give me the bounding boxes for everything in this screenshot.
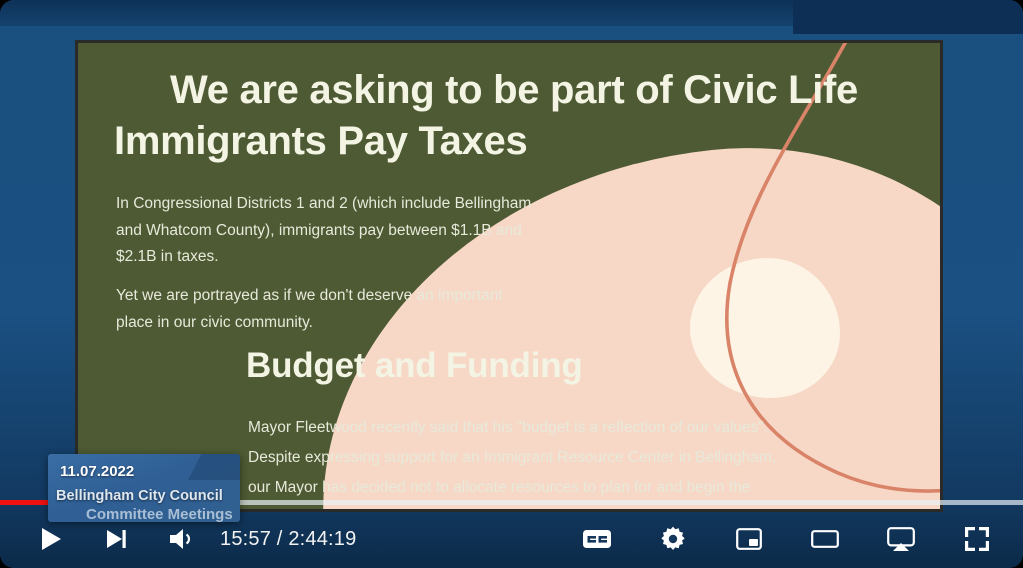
next-track-button[interactable] — [92, 515, 140, 563]
progress-track[interactable] — [0, 500, 1023, 505]
progress-bar[interactable] — [0, 494, 1023, 510]
corner-shade — [793, 0, 1023, 34]
cast-airplay-icon[interactable] — [877, 515, 925, 563]
control-button-row: 15:57 / 2:44:19 — [0, 510, 1023, 568]
subtitles-cc-icon[interactable] — [573, 515, 621, 563]
left-controls: 15:57 / 2:44:19 — [0, 515, 356, 563]
slide-paragraph-2: Yet we are portrayed as if we don't dese… — [116, 283, 536, 336]
video-player[interactable]: We are asking to be part of Civic Life I… — [0, 0, 1023, 568]
theater-mode-icon[interactable] — [801, 515, 849, 563]
cream-circle-decoration — [690, 258, 840, 398]
player-controls: 11.07.2022 Bellingham City Council Commi… — [0, 490, 1023, 568]
slide-title-line-1: We are asking to be part of Civic Life — [114, 65, 914, 116]
slide-title-line-2: Immigrants Pay Taxes — [114, 116, 914, 167]
video-frame: We are asking to be part of Civic Life I… — [75, 40, 943, 512]
play-button[interactable] — [26, 515, 74, 563]
scrub-handle[interactable] — [112, 498, 121, 507]
volume-button[interactable] — [158, 515, 206, 563]
right-controls — [573, 515, 1023, 563]
slide-paragraph-1: In Congressional Districts 1 and 2 (whic… — [116, 191, 536, 271]
progress-played — [0, 500, 115, 505]
miniplayer-icon[interactable] — [725, 515, 773, 563]
slide-subheading: Budget and Funding — [246, 346, 583, 386]
time-display: 15:57 / 2:44:19 — [220, 528, 356, 551]
progress-buffered — [0, 500, 1023, 505]
fullscreen-icon[interactable] — [953, 515, 1001, 563]
settings-gear-icon[interactable] — [649, 515, 697, 563]
slide-title: We are asking to be part of Civic Life I… — [114, 65, 914, 167]
presentation-slide: We are asking to be part of Civic Life I… — [78, 43, 940, 509]
